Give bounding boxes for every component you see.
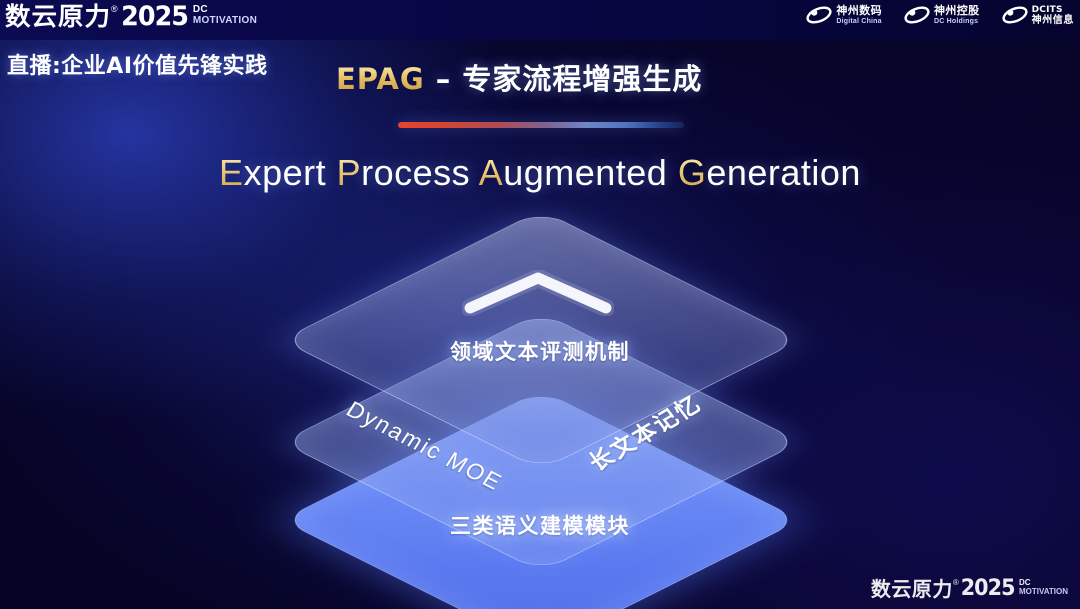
swirl-logo-icon: [806, 4, 832, 26]
subtitle-english: Expert Process Augmented Generation: [0, 152, 1080, 194]
watermark-year: 2025: [960, 577, 1014, 601]
brand-dc-line2: MOTIVATION: [193, 15, 257, 26]
layered-architecture-diagram: 领域文本评测机制 Dynamic MOE 长文本记忆 三类语义建模模块: [0, 218, 1080, 578]
partner-logo-dcits: DCITS 神州信息: [1002, 4, 1074, 26]
brand-name-cn: 数云原力: [5, 2, 111, 32]
brand-logo: 数云原力 ® 2025 DC MOTIVATION: [6, 2, 257, 32]
headline-separator: –: [425, 62, 463, 96]
watermark-dc-motivation: DC MOTIVATION: [1019, 579, 1068, 596]
diagram-label-bottom: 三类语义建模模块: [0, 510, 1080, 540]
presentation-slide: 数云原力 ® 2025 DC MOTIVATION 直播:企业AI价值先锋实践 …: [0, 0, 1080, 609]
watermark-registered-mark: ®: [953, 577, 959, 588]
diagram-label-top: 领域文本评测机制: [0, 336, 1080, 366]
gradient-divider: [398, 122, 684, 128]
partner-name-cn: 神州信息: [1032, 16, 1074, 26]
brand-dc-line1: DC: [193, 5, 257, 15]
partner-name-cn: 神州数码: [836, 5, 882, 16]
watermark-dc-line1: DC: [1019, 579, 1068, 587]
partner-name-en: DC Holdings: [934, 18, 980, 25]
partner-logo-dc-holdings: 神州控股 DC Holdings: [904, 4, 980, 26]
subtitle-cap-p: P: [337, 152, 362, 193]
swirl-logo-icon: [1002, 4, 1028, 26]
brand-dc-motivation: DC MOTIVATION: [193, 5, 257, 26]
subtitle-rest-rocess: rocess: [361, 152, 479, 193]
subtitle-rest-ugmented: ugmented: [503, 152, 678, 193]
headline-acronym: EPAG: [336, 62, 425, 96]
watermark-name-cn: 数云原力: [871, 577, 953, 601]
subtitle-cap-e: E: [219, 152, 244, 193]
subtitle-cap-a: A: [479, 152, 504, 193]
partner-logo-digital-china: 神州数码 Digital China: [806, 4, 882, 26]
subtitle-cap-g: G: [678, 152, 707, 193]
chevron-up-icon: [462, 270, 614, 316]
watermark-dc-line2: MOTIVATION: [1019, 587, 1068, 596]
slide-headline: EPAG – 专家流程增强生成: [336, 56, 702, 98]
swirl-logo-icon: [904, 4, 930, 26]
registered-mark: ®: [111, 2, 118, 16]
subtitle-rest-eneration: eneration: [706, 152, 861, 193]
headline-chinese: 专家流程增强生成: [462, 62, 702, 96]
partner-name-en: Digital China: [836, 18, 882, 25]
brand-year: 2025: [121, 2, 188, 32]
partner-name-cn: 神州控股: [934, 5, 980, 16]
partner-logos: 神州数码 Digital China 神州控股 DC Holdings: [806, 4, 1074, 26]
live-banner-text: 直播:企业AI价值先锋实践: [7, 48, 268, 80]
partner-name-en: DCITS: [1032, 6, 1074, 15]
subtitle-rest-xpert: xpert: [244, 152, 337, 193]
corner-watermark-logo: 数云原力 ® 2025 DC MOTIVATION: [871, 577, 1068, 601]
